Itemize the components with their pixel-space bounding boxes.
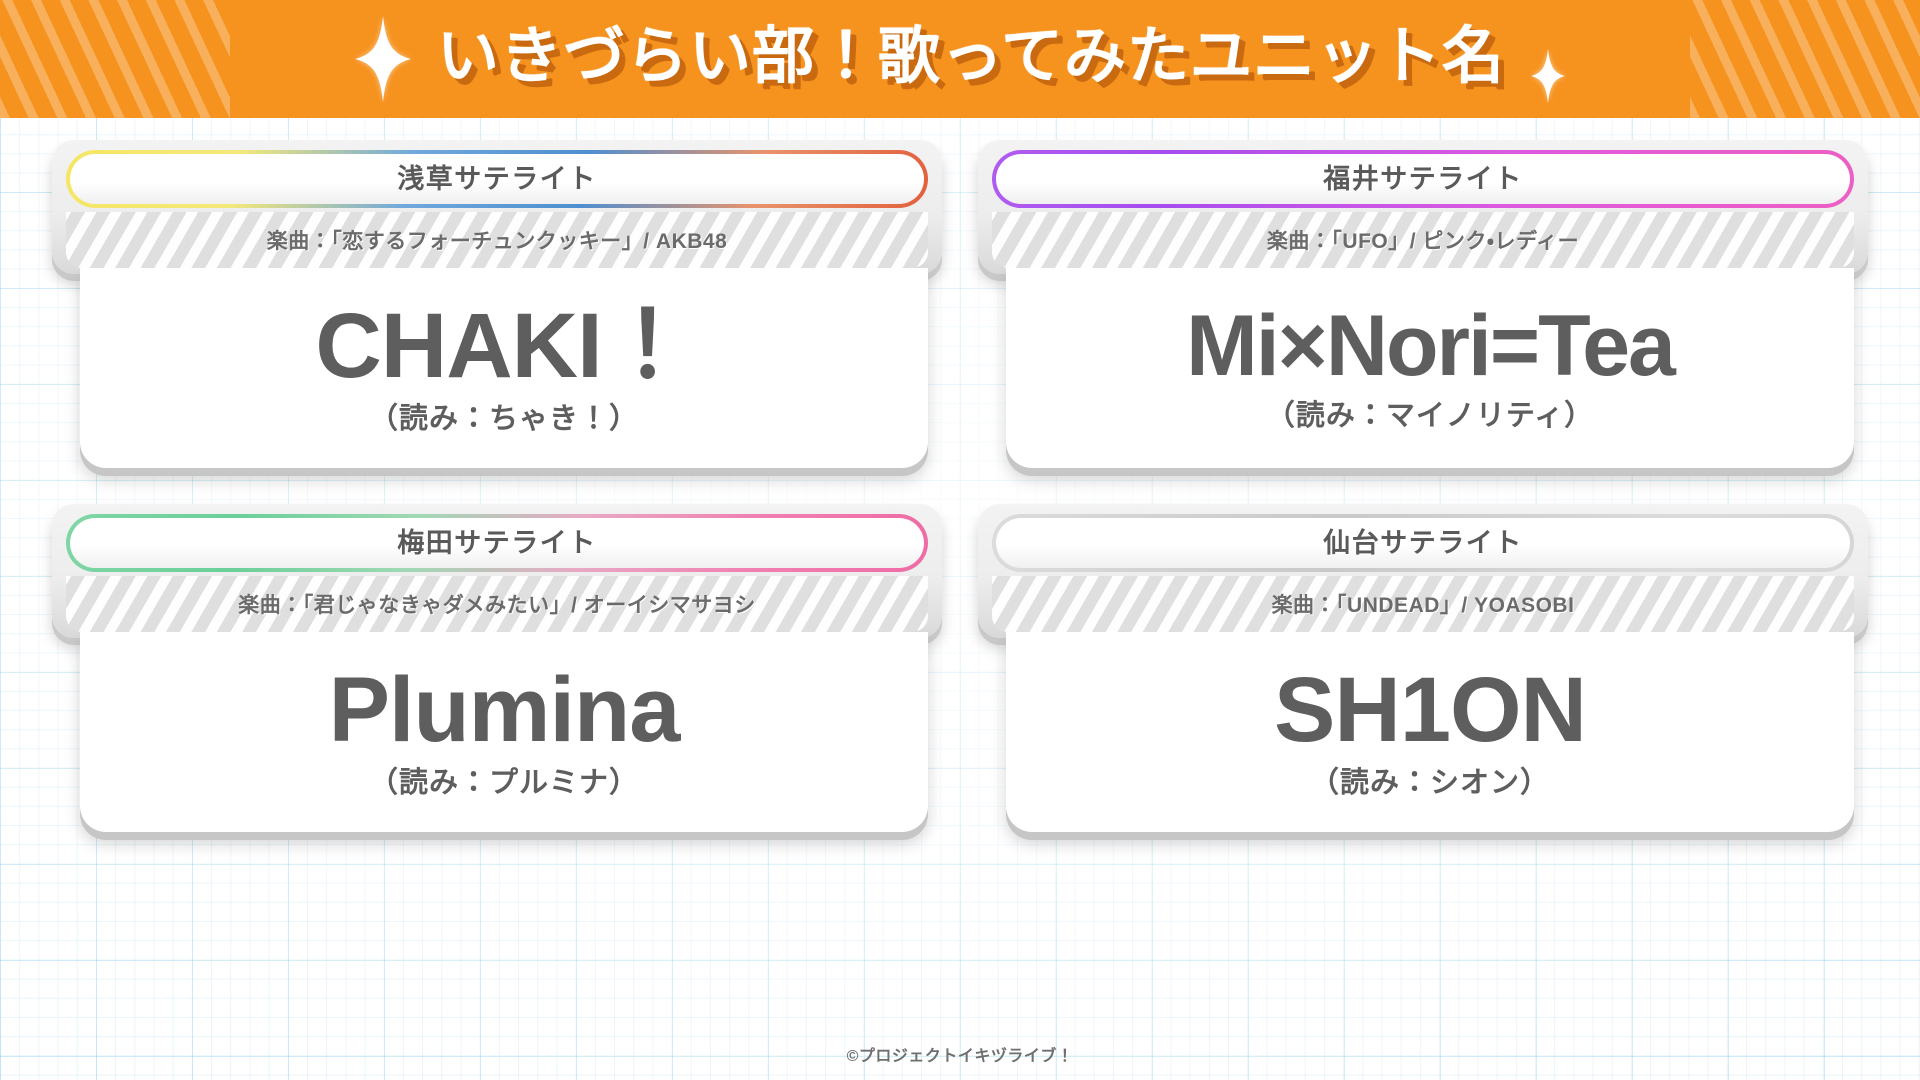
unit-name-panel: Mi×Nori=Tea （読み：マイノリティ） (1006, 268, 1854, 468)
unit-reading: （読み：ちゃき！） (369, 395, 639, 437)
song-info-band: 楽曲：「恋するフォーチュンクッキー」/ AKB48 (66, 212, 928, 268)
song-info-band: 楽曲：「君じゃなきゃダメみたい」/ オーイシマサヨシ (66, 576, 928, 632)
unit-name-panel: CHAKI！ （読み：ちゃき！） (80, 268, 928, 468)
song-info-text: 楽曲：「君じゃなきゃダメみたい」/ オーイシマサヨシ (238, 589, 756, 619)
song-info-text: 楽曲：「恋するフォーチュンクッキー」/ AKB48 (267, 225, 728, 255)
footer: ©プロジェクトイキヅライブ！ (0, 1042, 1920, 1066)
satellite-name: 仙台サテライト (1323, 530, 1523, 557)
unit-name: CHAKI！ (315, 299, 692, 395)
satellite-name-pill: 仙台サテライト (992, 514, 1854, 572)
song-info-text: 楽曲：「UFO」/ ピンク・レディー (1267, 225, 1579, 255)
copyright-text: ©プロジェクトイキヅライブ！ (847, 1048, 1074, 1065)
satellite-name: 梅田サテライト (397, 530, 597, 557)
sparkle-icon (355, 16, 411, 102)
unit-name: Plumina (329, 663, 680, 759)
unit-card[interactable]: 福井サテライト 楽曲：「UFO」/ ピンク・レディー Mi×Nori=Tea （… (978, 140, 1868, 470)
unit-name-panel: Plumina （読み：プルミナ） (80, 632, 928, 832)
satellite-name-pill: 梅田サテライト (66, 514, 928, 572)
unit-reading: （読み：プルミナ） (369, 759, 639, 801)
unit-reading: （読み：シオン） (1310, 759, 1550, 801)
unit-name: Mi×Nori=Tea (1186, 302, 1674, 391)
sparkle-icon (1531, 49, 1565, 103)
unit-card[interactable]: 梅田サテライト 楽曲：「君じゃなきゃダメみたい」/ オーイシマサヨシ Plumi… (52, 504, 942, 834)
unit-card[interactable]: 仙台サテライト 楽曲：「UNDEAD」/ YOASOBI SH1ON （読み：シ… (978, 504, 1868, 834)
song-info-text: 楽曲：「UNDEAD」/ YOASOBI (1272, 589, 1575, 619)
unit-card[interactable]: 浅草サテライト 楽曲：「恋するフォーチュンクッキー」/ AKB48 CHAKI！… (52, 140, 942, 470)
header-banner: いきづらい部！歌ってみたユニット名 (0, 0, 1920, 118)
satellite-name: 福井サテライト (1323, 166, 1523, 193)
unit-name-panel: SH1ON （読み：シオン） (1006, 632, 1854, 832)
song-info-band: 楽曲：「UNDEAD」/ YOASOBI (992, 576, 1854, 632)
unit-name: SH1ON (1274, 663, 1586, 759)
satellite-name-pill: 浅草サテライト (66, 150, 928, 208)
page-title: いきづらい部！歌ってみたユニット名 (437, 26, 1505, 88)
satellite-name: 浅草サテライト (397, 166, 597, 193)
song-info-band: 楽曲：「UFO」/ ピンク・レディー (992, 212, 1854, 268)
unit-reading: （読み：マイノリティ） (1266, 392, 1594, 434)
satellite-name-pill: 福井サテライト (992, 150, 1854, 208)
unit-card-grid: 浅草サテライト 楽曲：「恋するフォーチュンクッキー」/ AKB48 CHAKI！… (52, 140, 1868, 834)
